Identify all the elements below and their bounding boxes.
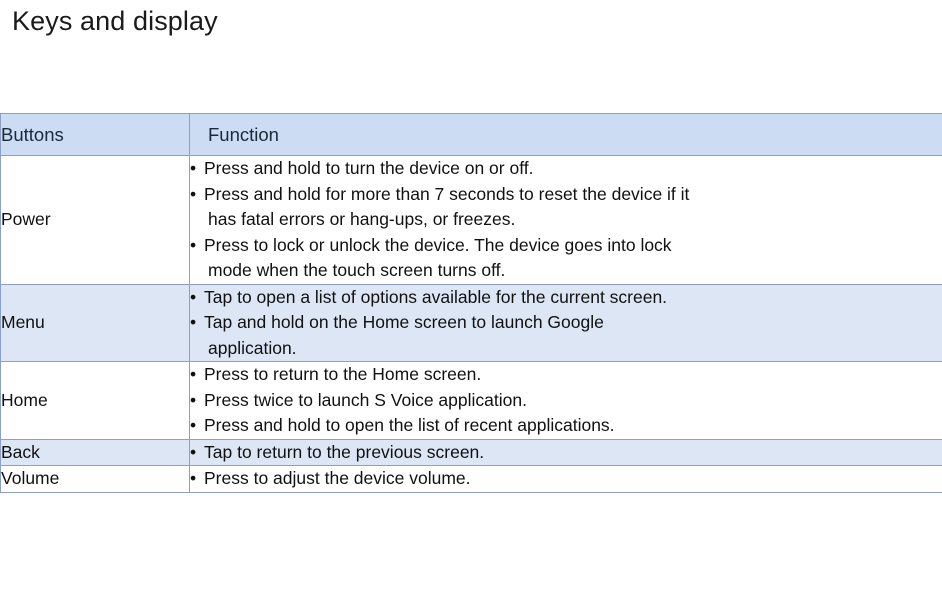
function-bullet-item: •Press and hold to open the list of rece… [190,413,942,439]
function-bullet-item: •Press twice to launch S Voice applicati… [190,388,942,414]
table-row: Home•Press to return to the Home screen.… [1,362,942,440]
bullet-text-line: Press to lock or unlock the device. The … [204,233,942,259]
function-bullet-item: •Press and hold to turn the device on or… [190,156,942,182]
function-bullet-item: •Press to return to the Home screen. [190,362,942,388]
key-name-cell: Back [1,439,190,466]
bullet-text-line: Tap to open a list of options available … [204,285,942,311]
function-description-cell: •Press and hold to turn the device on or… [190,156,942,285]
bullet-text-line: Press to adjust the device volume. [204,466,942,492]
function-description-cell: •Tap to return to the previous screen. [190,439,942,466]
function-bullet-list: •Press to adjust the device volume. [190,466,942,492]
bullet-icon: • [190,233,196,259]
bullet-icon: • [190,440,196,466]
function-bullet-list: •Tap to open a list of options available… [190,285,942,362]
function-bullet-item: •Press to lock or unlock the device. The… [190,233,942,284]
key-name-cell: Power [1,156,190,285]
bullet-text-line: Tap and hold on the Home screen to launc… [204,310,942,336]
bullet-icon: • [190,182,196,208]
function-bullet-list: •Press to return to the Home screen.•Pre… [190,362,942,439]
function-bullet-item: •Tap to return to the previous screen. [190,440,942,466]
function-bullet-item: •Tap to open a list of options available… [190,285,942,311]
key-name-cell: Menu [1,284,190,362]
table-row: Back•Tap to return to the previous scree… [1,439,942,466]
bullet-icon: • [190,156,196,182]
bullet-text-continuation: has fatal errors or hang-ups, or freezes… [204,207,942,233]
bullet-text-line: Press and hold for more than 7 seconds t… [204,182,942,208]
bullet-text-line: Press to return to the Home screen. [204,362,942,388]
key-name-cell: Home [1,362,190,440]
document-page: Keys and display Buttons Function Power•… [0,0,942,603]
table-header-row: Buttons Function [1,114,942,156]
table-header: Buttons Function [1,114,942,156]
bullet-icon: • [190,466,196,492]
table-row: Menu•Tap to open a list of options avail… [1,284,942,362]
bullet-text-continuation: mode when the touch screen turns off. [204,258,942,284]
function-description-cell: •Press to adjust the device volume. [190,466,942,493]
page-title: Keys and display [0,0,942,38]
bullet-text-continuation: application. [204,336,942,362]
function-bullet-list: •Press and hold to turn the device on or… [190,156,942,284]
bullet-text-line: Press and hold to turn the device on or … [204,156,942,182]
function-bullet-item: •Press to adjust the device volume. [190,466,942,492]
function-bullet-item: •Tap and hold on the Home screen to laun… [190,310,942,361]
function-bullet-item: •Press and hold for more than 7 seconds … [190,182,942,233]
function-description-cell: •Tap to open a list of options available… [190,284,942,362]
bullet-icon: • [190,388,196,414]
key-name-cell: Volume [1,466,190,493]
bullet-text-line: Press and hold to open the list of recen… [204,413,942,439]
table-row: Volume•Press to adjust the device volume… [1,466,942,493]
function-bullet-list: •Tap to return to the previous screen. [190,440,942,466]
keys-and-display-table: Buttons Function Power•Press and hold to… [0,113,942,493]
function-description-cell: •Press to return to the Home screen.•Pre… [190,362,942,440]
bullet-icon: • [190,310,196,336]
column-header-buttons: Buttons [1,114,190,156]
bullet-icon: • [190,362,196,388]
column-header-function: Function [190,114,942,156]
bullet-icon: • [190,413,196,439]
bullet-text-line: Press twice to launch S Voice applicatio… [204,388,942,414]
bullet-icon: • [190,285,196,311]
bullet-text-line: Tap to return to the previous screen. [204,440,942,466]
table-body: Power•Press and hold to turn the device … [1,156,942,493]
table-row: Power•Press and hold to turn the device … [1,156,942,285]
